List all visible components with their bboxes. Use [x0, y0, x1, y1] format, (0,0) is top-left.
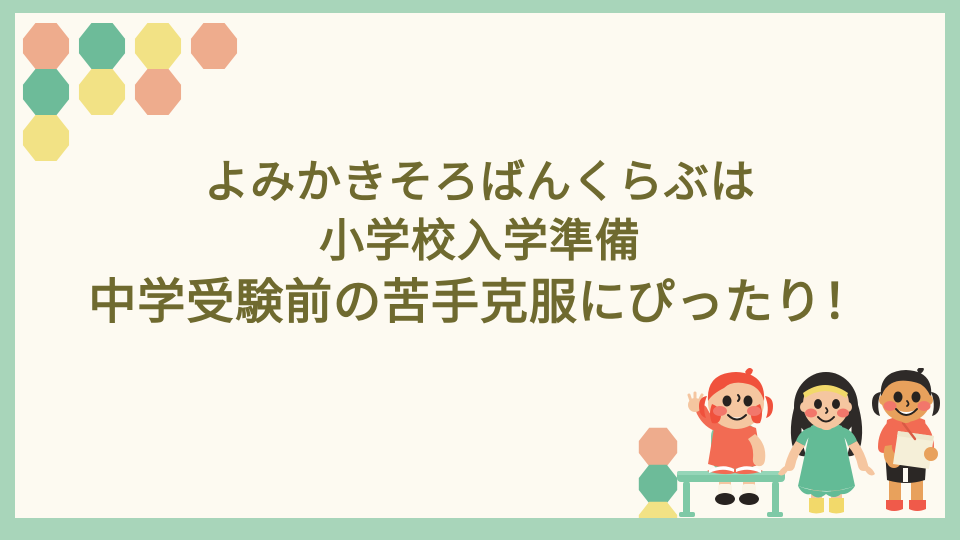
- hexagon-decor: [134, 22, 182, 70]
- boy-raising-hand-at-desk: [688, 368, 773, 505]
- hexagon-decor: [190, 22, 238, 70]
- hexagon-decor: [134, 68, 182, 116]
- girl-in-green-dress: [778, 372, 875, 514]
- hexagon-decor: [78, 22, 126, 70]
- cream-panel: よみかきそろばんくらぶは 小学校入学準備 中学受験前の苦手克服にぴったり！: [15, 13, 945, 518]
- hexagon-decor: [78, 68, 126, 116]
- children-illustration: [615, 368, 945, 518]
- banner-canvas: よみかきそろばんくらぶは 小学校入学準備 中学受験前の苦手克服にぴったり！: [0, 0, 960, 540]
- headline-line-2: 小学校入学準備: [15, 211, 945, 270]
- open-book: [707, 466, 763, 474]
- hexagon-decor: [22, 22, 70, 70]
- headline-line-3: 中学受験前の苦手克服にぴったり！: [15, 271, 945, 334]
- headline-line-1: よみかきそろばんくらぶは: [15, 152, 945, 211]
- headline-block: よみかきそろばんくらぶは 小学校入学準備 中学受験前の苦手克服にぴったり！: [15, 152, 945, 334]
- boy-holding-paper: [872, 368, 940, 511]
- hexagon-decor: [22, 68, 70, 116]
